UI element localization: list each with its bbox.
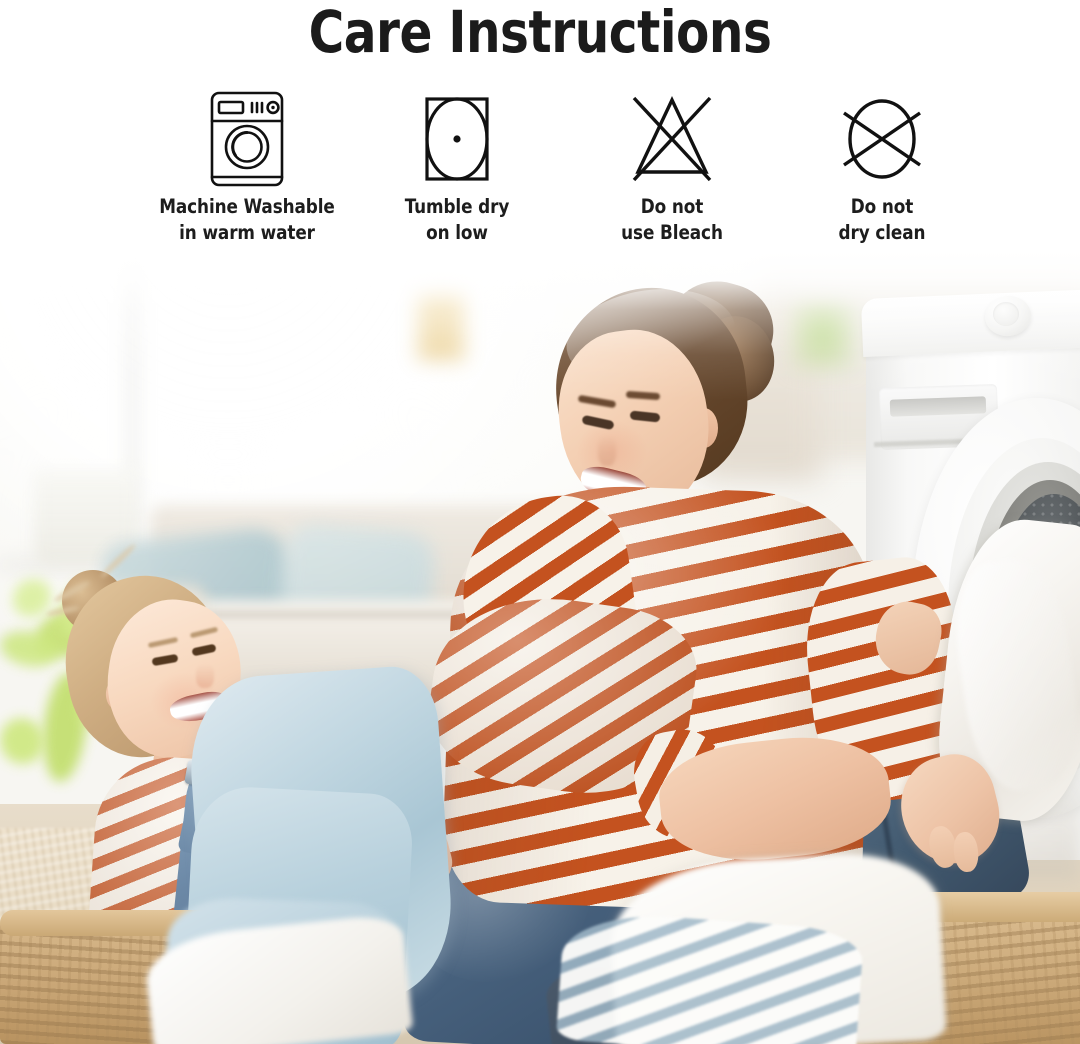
girl-nose — [196, 664, 214, 688]
caption-line-1: Machine Washable — [159, 195, 335, 218]
infographic-page: Care Instructions — [0, 0, 1080, 1044]
shelf-plant — [790, 300, 856, 372]
detergent-drawer-slot — [890, 396, 987, 416]
care-item-caption: Machine Washable in warm water — [137, 194, 358, 246]
background-box — [418, 290, 464, 360]
caption-line-1: Do not — [641, 195, 703, 218]
caption-line-2: in warm water — [137, 220, 358, 246]
care-item-tumble-dry: Tumble dry on low — [342, 84, 572, 246]
care-item-caption: Tumble dry on low — [347, 194, 568, 246]
page-title: Care Instructions — [38, 0, 1042, 66]
washing-machine-icon — [132, 84, 362, 194]
care-instructions-header: Care Instructions — [0, 0, 1080, 268]
tumble-dry-low-icon — [342, 84, 572, 194]
laundry-pile-striped — [556, 910, 864, 1044]
washing-machine-knob-inner — [993, 302, 1019, 326]
care-item-caption: Do not dry clean — [772, 194, 993, 246]
do-not-bleach-icon — [557, 84, 787, 194]
care-item-caption: Do not use Bleach — [562, 194, 783, 246]
caption-line-2: on low — [347, 220, 568, 246]
care-item-do-not-bleach: Do not use Bleach — [557, 84, 787, 246]
caption-line-1: Tumble dry — [405, 195, 509, 218]
caption-line-2: use Bleach — [562, 220, 783, 246]
washing-machine-top-panel — [861, 289, 1080, 357]
woman-nose — [598, 436, 616, 466]
care-item-machine-washable: Machine Washable in warm water — [132, 84, 362, 246]
caption-line-1: Do not — [851, 195, 913, 218]
care-symbol-row: Machine Washable in warm water Tumble dr… — [0, 84, 1080, 264]
house-plant — [0, 280, 180, 540]
care-item-do-not-dry-clean: Do not dry clean — [767, 84, 997, 246]
caption-line-2: dry clean — [772, 220, 993, 246]
do-not-dry-clean-icon — [767, 84, 997, 194]
